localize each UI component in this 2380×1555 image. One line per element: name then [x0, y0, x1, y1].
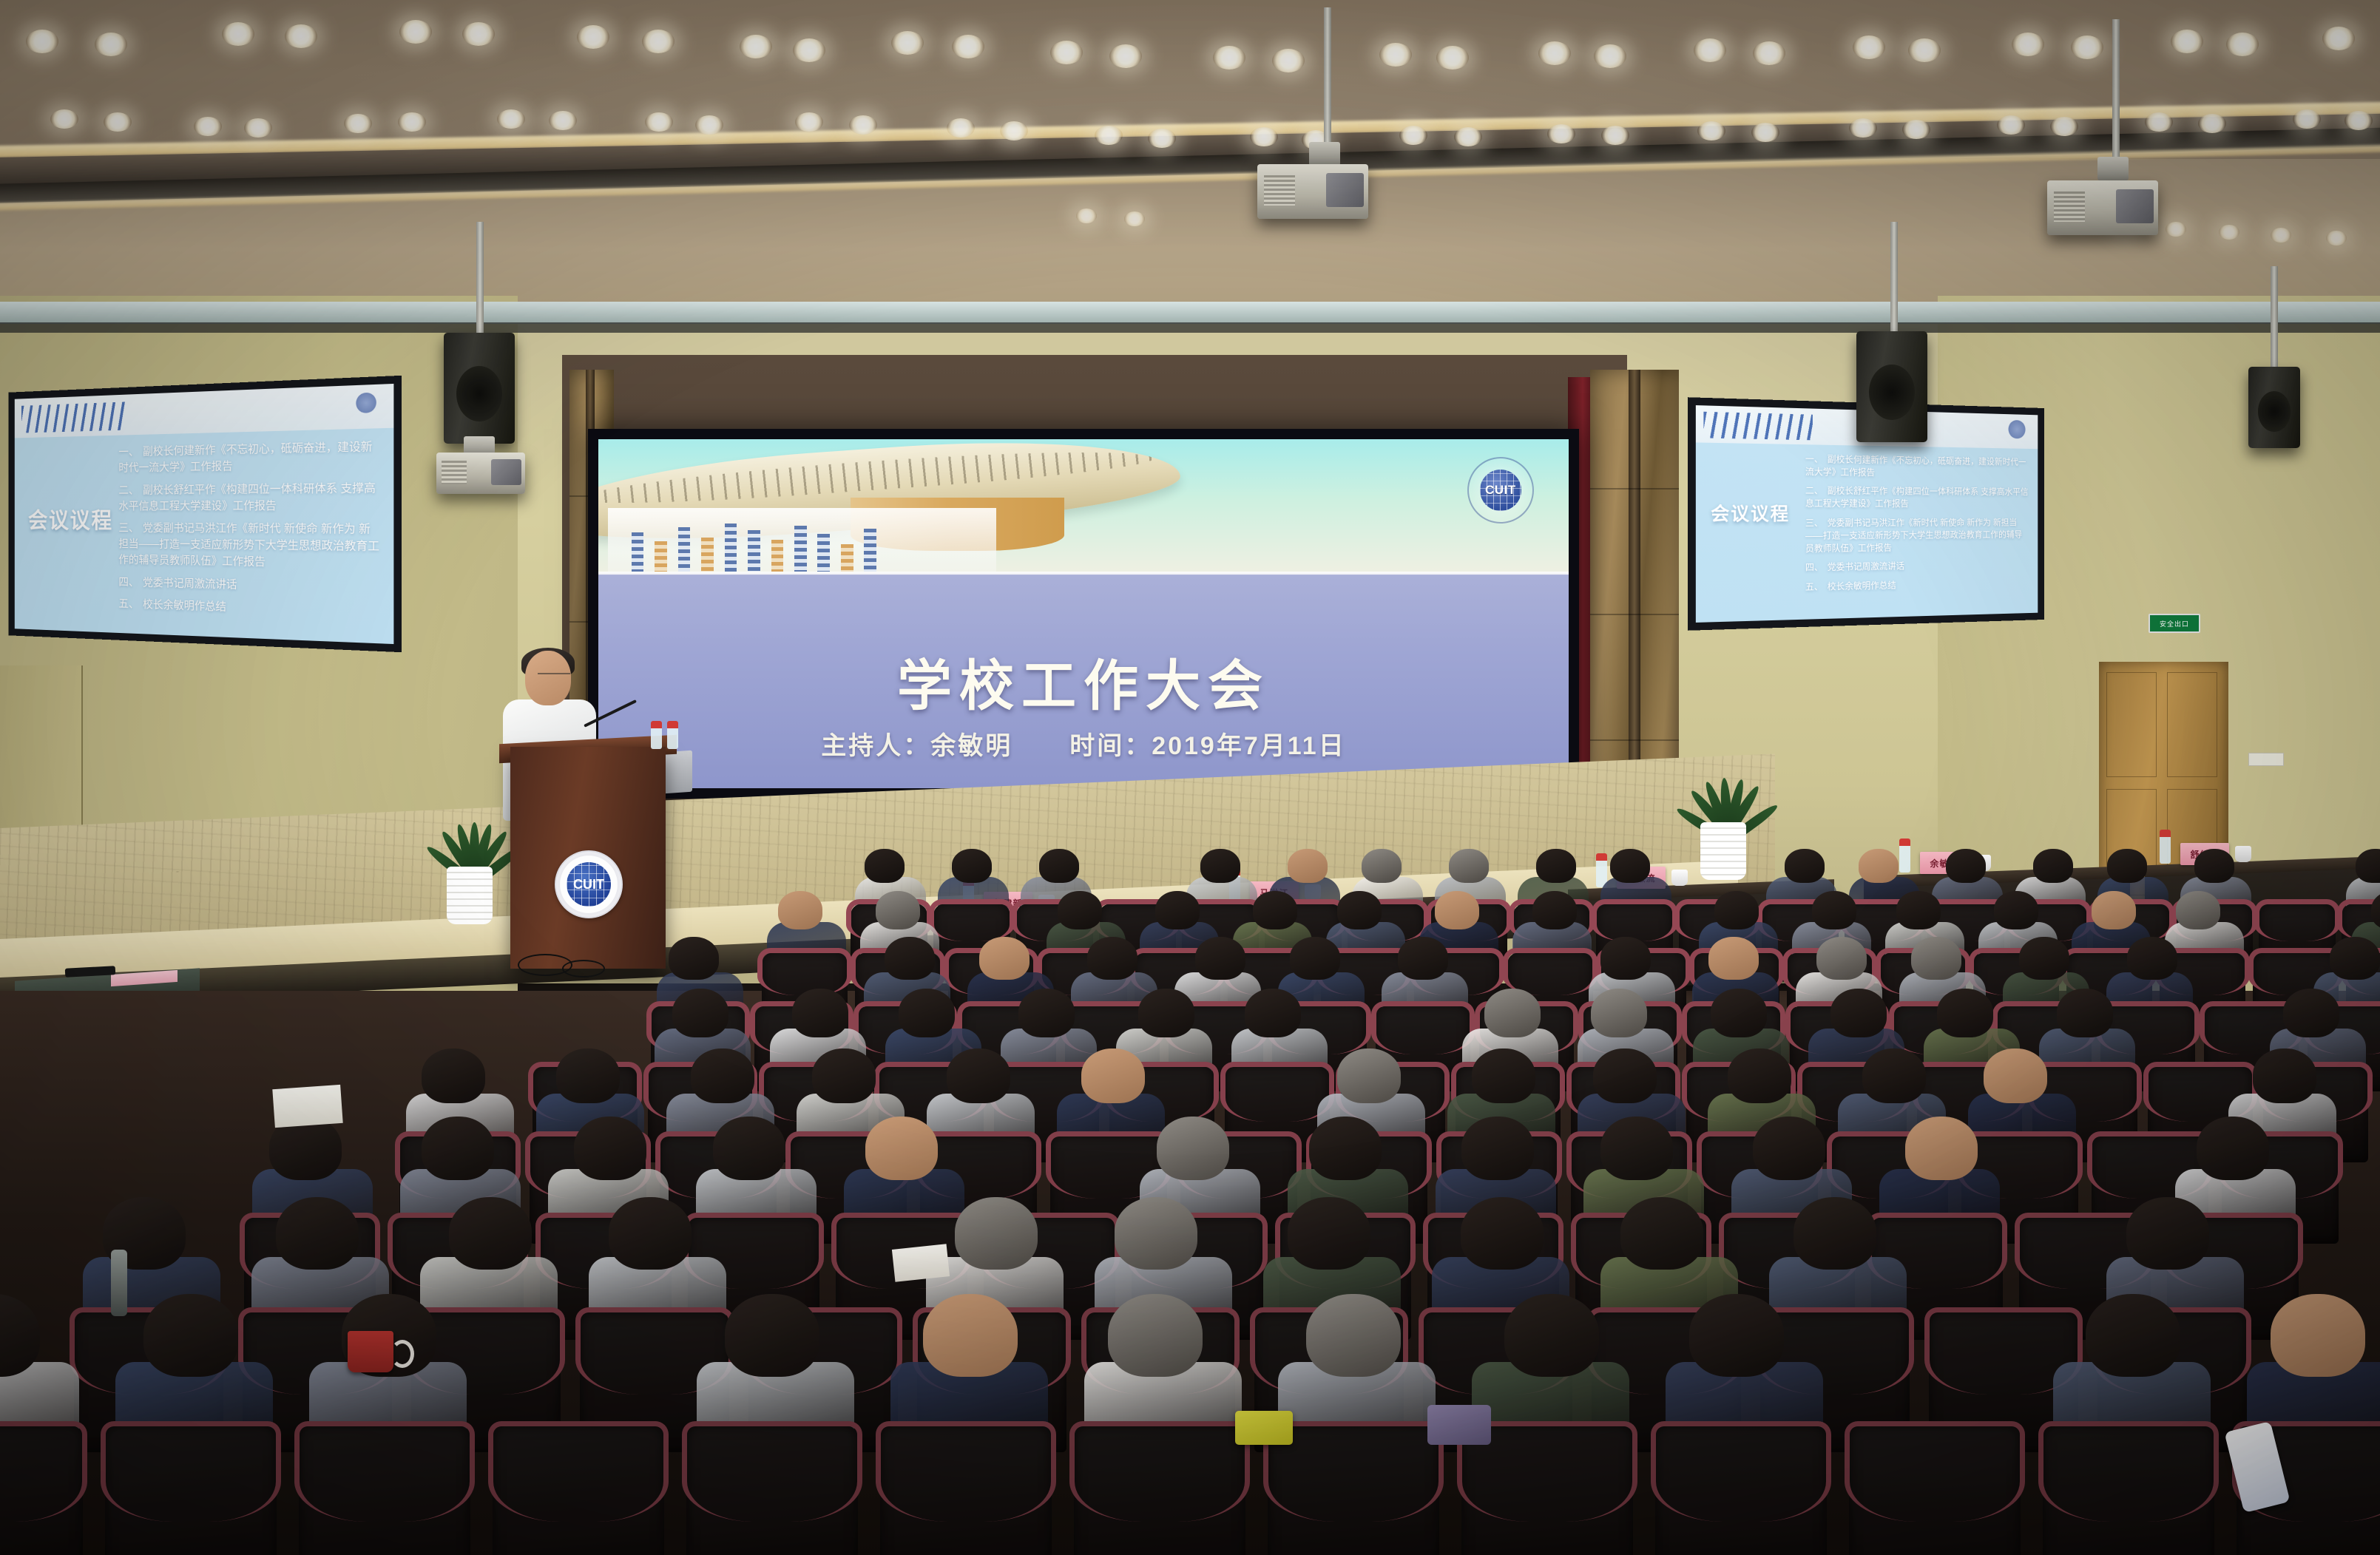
audience-member-head [1058, 891, 1102, 929]
auditorium-seat[interactable] [299, 1426, 470, 1555]
ceiling-downlight [1601, 126, 1629, 145]
hanging-speaker-left [444, 333, 515, 444]
agenda-item-text: 党委书记周激流讲话 [1828, 561, 1904, 573]
ceiling-downlight [1148, 129, 1176, 148]
speaking-podium: CUIT [510, 747, 666, 969]
tea-cup [1671, 870, 1688, 886]
speaker-hanger-rod [2271, 266, 2278, 370]
agenda-item-number: 三、 [1805, 518, 1823, 528]
slide-building-window [678, 527, 691, 572]
floor-cable [562, 960, 605, 978]
ceiling-downlight [2071, 35, 2103, 59]
audience-member-head [1911, 937, 1961, 980]
audience-member-head [1461, 1197, 1544, 1270]
cuit-podium-emblem-icon: CUIT [555, 850, 623, 918]
door-panel [2106, 672, 2157, 777]
audience-member-head [1288, 849, 1328, 883]
audience-member-head [1600, 1117, 1673, 1180]
audience-member-head [609, 1197, 692, 1270]
slide-subtitle-row: 主持人：余敏明 时间：2019年7月11日 [598, 725, 1569, 762]
ceiling-downlight [1547, 124, 1575, 143]
ceiling-downlight [50, 109, 78, 129]
audience-member-head [1862, 1048, 1926, 1103]
auditorium-seat[interactable] [1268, 1426, 1439, 1555]
ceiling-downlight [2326, 231, 2347, 245]
paper-handout [272, 1085, 342, 1128]
audience-member-head [1984, 1048, 2047, 1103]
ceiling-downlight [1076, 209, 1097, 223]
slide-building-window [701, 538, 714, 572]
ceiling-downlight [1694, 38, 1726, 62]
audience-member-head [143, 1294, 238, 1377]
slide-building-window [725, 524, 737, 572]
main-slide: CUIT 学校工作大会 主持人：余敏明 时间：2019年7月11日 [598, 439, 1569, 788]
audience-member-head [2033, 849, 2073, 883]
audience-member-head [1288, 1197, 1370, 1270]
ceiling-downlight [398, 112, 426, 132]
slide-building-graphic [608, 508, 996, 572]
agenda-item-number: 四、 [118, 575, 138, 588]
audience-member-head [1472, 1048, 1535, 1103]
agenda-item: 三、党委副书记马洪江作《新时代 新使命 新作为 新担当——打造一支适应新形势下大… [1805, 517, 2029, 555]
agenda-item-text: 党委副书记马洪江作《新时代 新使命 新作为 新担当——打造一支适应新形势下大学生… [118, 522, 379, 568]
audience-member-head [1905, 1117, 1978, 1180]
travel-mug [348, 1331, 393, 1372]
ceiling-downlight [2293, 109, 2321, 129]
ceiling-downlight [1050, 41, 1083, 64]
audience-member-head [1689, 1294, 1784, 1377]
cuit-logo-text: CUIT [1485, 483, 1516, 498]
audience-member-head [2127, 937, 2177, 980]
slide-building-window [794, 526, 807, 572]
slide-building-window [748, 530, 760, 572]
agenda-item: 四、党委书记周激流讲话 [118, 575, 381, 597]
audience-member-head [865, 849, 905, 883]
audience-member-head [923, 1294, 1018, 1377]
ceiling-projector-left [436, 453, 525, 494]
auditorium-seat[interactable] [1849, 1426, 2021, 1555]
cuit-logo-text: CUIT [573, 877, 604, 892]
audience-member-head [1620, 1197, 1703, 1270]
cuit-emblem-icon: CUIT [1467, 457, 1534, 524]
agenda-item-text: 副校长何建新作《不忘初心，砥砺奋进，建设新时代一流大学》工作报告 [1805, 454, 2026, 478]
ceiling-downlight [1250, 127, 1278, 146]
audience-member-head [1794, 1197, 1876, 1270]
audience-member-head [955, 1197, 1038, 1270]
ceiling-downlight [2226, 33, 2259, 56]
auditorium-seat[interactable] [105, 1426, 277, 1555]
agenda-item-text: 副校长何建新作《不忘初心，砥砺奋进，建设新时代一流大学》工作报告 [118, 441, 372, 475]
slide-building-window [817, 534, 830, 572]
slide-title: 学校工作大会 [598, 642, 1569, 721]
projector-lens-icon [1326, 173, 1364, 207]
audience-member-head [2107, 849, 2147, 883]
auditorium-seat[interactable] [880, 1426, 1052, 1555]
ceiling-downlight [1436, 46, 1469, 70]
agenda-item-number: 二、 [1805, 486, 1823, 496]
ceiling-downlight [1594, 44, 1626, 68]
side-slide-heading: 会议议程 [1711, 498, 1790, 526]
agenda-item-text: 副校长舒红平作《构建四位一体科研体系 支撑高水平信息工程大学建设》工作报告 [1805, 486, 2028, 509]
audience-member-head [672, 989, 728, 1037]
audience-member-head [1816, 937, 1867, 980]
audience-member-head [1937, 989, 1993, 1037]
auditorium-seat[interactable] [0, 1426, 83, 1555]
audience-member-head [1253, 891, 1297, 929]
audience-member-head [1714, 891, 1759, 929]
ceiling-downlight [1109, 44, 1142, 68]
speaker-hanger-rod [476, 222, 484, 333]
audience-member-head [2126, 1197, 2209, 1270]
projector-lens-icon [2116, 189, 2154, 223]
audience-member-head [669, 937, 719, 980]
yellow-notebook [1235, 1411, 1293, 1445]
audience-member-head [2086, 1294, 2180, 1377]
audience-member-head [574, 1117, 646, 1180]
ceiling-downlight [695, 115, 723, 135]
audience-member-head [1309, 1117, 1382, 1180]
ceiling-downlight [2145, 112, 2173, 132]
audience-member-head [1039, 849, 1079, 883]
audience-member-head [778, 891, 822, 929]
ceiling-downlight [1853, 35, 1885, 59]
audience-member-head [1728, 1048, 1791, 1103]
ceiling-downlight [891, 31, 924, 55]
audience-member-head [2356, 849, 2380, 883]
audience-member-head [876, 891, 920, 929]
ceiling-downlight [104, 112, 132, 132]
ceiling-downlight [2271, 228, 2291, 243]
audience-member-head [952, 849, 992, 883]
agenda-item-number: 五、 [1805, 581, 1823, 592]
audience-member-head [792, 989, 848, 1037]
agenda-item: 五、校长余敏明作总结 [118, 596, 381, 620]
ceiling-downlight [2166, 222, 2186, 237]
audience-member-head [2271, 1294, 2365, 1377]
audience-member-head [2057, 989, 2113, 1037]
ceiling-downlight [26, 30, 58, 53]
agenda-item-number: 三、 [118, 522, 138, 535]
ceiling-downlight [795, 112, 823, 132]
audience-member-head [2194, 849, 2234, 883]
slide-building-window [841, 544, 853, 572]
ceiling-downlight [344, 114, 372, 133]
mug-handle-icon [391, 1340, 414, 1368]
audience-member-head [1337, 1048, 1401, 1103]
water-bottle [651, 721, 662, 749]
ceiling-downlight [1213, 46, 1245, 70]
side-slide-agenda-list: 一、副校长何建新作《不忘初心，砥砺奋进，建设新时代一流大学》工作报告二、副校长舒… [118, 438, 381, 628]
tea-cup [2235, 846, 2251, 862]
globe-icon: CUIT [567, 862, 611, 907]
ceiling-downlight [1000, 121, 1028, 140]
ceiling-downlight [2198, 114, 2226, 133]
cuit-emblem-icon [2008, 420, 2025, 439]
agenda-item-number: 一、 [1805, 453, 1823, 464]
audience-member-head [713, 1117, 785, 1180]
ceiling-downlight [1454, 127, 1482, 146]
audience-member-head [2253, 1048, 2316, 1103]
audience-member-head [2019, 937, 2069, 980]
ceiling-downlight [1902, 120, 1930, 139]
audience-member-head [1337, 891, 1382, 929]
projector-lens-icon [491, 459, 521, 485]
door-panel [2167, 672, 2217, 777]
agenda-item: 一、副校长何建新作《不忘初心，砥砺奋进，建设新时代一流大学》工作报告 [118, 438, 381, 476]
side-slide-heading: 会议议程 [28, 502, 113, 535]
audience-member-head [1711, 989, 1767, 1037]
slide-time-label: 时间：2019年7月11日 [1069, 732, 1346, 760]
ceiling-downlight [462, 22, 495, 46]
audience-member-head [1290, 937, 1340, 980]
speaker-hanger-rod [1890, 222, 1898, 333]
water-bottle [1899, 839, 1910, 873]
audience-member-head [1398, 937, 1448, 980]
ceiling-downlight [642, 30, 675, 53]
hanging-speaker-far-right [2248, 367, 2300, 448]
folded-garment [1427, 1405, 1491, 1445]
audience-member-head [2092, 891, 2136, 929]
audience-member-head [1994, 891, 2038, 929]
ceiling-downlight [244, 118, 272, 138]
projector-vent [1264, 175, 1295, 206]
audience-member-head [1753, 1117, 1825, 1180]
slide-building-window [632, 532, 644, 572]
agenda-item: 四、党委书记周激流讲话 [1805, 559, 2029, 575]
agenda-item: 一、副校长何建新作《不忘初心，砥砺奋进，建设新时代一流大学》工作报告 [1805, 453, 2029, 480]
audience-member-head [1532, 891, 1577, 929]
audience-member-head [1830, 989, 1887, 1037]
projector-hanger-rod [2112, 19, 2120, 160]
audience-member-head [899, 989, 955, 1037]
hanging-speaker-right [1856, 331, 1927, 442]
audience-member-head [1449, 849, 1489, 883]
ceiling-downlight [645, 112, 673, 132]
audience-member-head [1362, 849, 1402, 883]
agenda-item-number: 五、 [118, 597, 138, 610]
agenda-item: 二、副校长舒红平作《构建四位一体科研体系 支撑高水平信息工程大学建设》工作报告 [1805, 485, 2029, 511]
auditorium-seat[interactable] [686, 1426, 858, 1555]
slide-building-window [771, 540, 784, 572]
audience-member-head [276, 1197, 359, 1270]
ceiling-downlight [285, 24, 317, 48]
paper-handout [892, 1244, 950, 1281]
projector-vent [2054, 192, 2085, 222]
agenda-item-number: 二、 [118, 484, 138, 497]
wall-cornice-strip [0, 302, 2380, 324]
agenda-item: 五、校长余敏明作总结 [1805, 577, 2029, 594]
audience-member-head [1081, 1048, 1145, 1103]
ceiling-downlight [2322, 27, 2355, 50]
ceiling-downlight [1124, 211, 1145, 226]
audience-member-head [2197, 1117, 2269, 1180]
main-projection-screen: CUIT 学校工作大会 主持人：余敏明 时间：2019年7月11日 [588, 429, 1579, 799]
audience-member-head [1484, 989, 1541, 1037]
audience-member-head [865, 1117, 938, 1180]
audience-member-head [1087, 937, 1137, 980]
audience-member-head [1018, 989, 1075, 1037]
ceiling-downlight [1095, 126, 1123, 145]
audience-member-head [1138, 989, 1194, 1037]
projector-mount [2097, 157, 2129, 180]
ceiling-downlight [497, 109, 525, 129]
ceiling-downlight [1379, 43, 1412, 67]
audience-member-head [422, 1048, 485, 1103]
audience-member-head [1591, 989, 1647, 1037]
audience-member-head [556, 1048, 620, 1103]
audience-member-head [1593, 1048, 1657, 1103]
ceiling-downlight [222, 22, 254, 46]
potted-plant-right [1664, 665, 1782, 880]
water-bottle [2160, 830, 2171, 864]
agenda-item-text: 党委副书记马洪江作《新时代 新使命 新作为 新担当——打造一支适应新形势下大学生… [1805, 518, 2022, 554]
audience-member-head [1195, 937, 1245, 980]
audience-member-head [1200, 849, 1240, 883]
wall-cornice-shadow [0, 322, 2380, 333]
ceiling-downlight [952, 35, 984, 58]
glasses-icon [538, 673, 570, 681]
auditorium-seat[interactable] [1461, 1426, 1633, 1555]
ceiling-downlight [194, 117, 222, 136]
projector-vent [442, 461, 467, 484]
audience-member-head [422, 1117, 494, 1180]
exit-sign: 安全出口 [2149, 614, 2200, 633]
audience-member-head [1600, 937, 1651, 980]
ceiling-downlight [1849, 118, 1877, 138]
ceiling-downlight [1272, 49, 1305, 72]
audience-member-head [1157, 1117, 1229, 1180]
audience-member-head [449, 1197, 532, 1270]
globe-icon: CUIT [1480, 470, 1521, 511]
ceiling-downlight [2050, 117, 2078, 136]
ceiling-downlight [947, 118, 975, 138]
auditorium-seat[interactable] [2043, 1426, 2214, 1555]
audience-member-head [1946, 849, 1986, 883]
agenda-item-text: 党委书记周激流讲话 [143, 576, 237, 591]
ceiling-downlight [1753, 41, 1785, 65]
audience-member-head [1708, 937, 1759, 980]
ceiling-downlight [1399, 126, 1427, 145]
audience-member-head [1115, 1197, 1197, 1270]
wall-switch-plate[interactable] [2248, 753, 2284, 766]
left-side-projection-screen: 会议议程 一、副校长何建新作《不忘初心，砥砺奋进，建设新时代一流大学》工作报告二… [8, 376, 402, 652]
audience-member-head [1435, 891, 1479, 929]
plant-pot [1700, 822, 1746, 880]
plant-pot [447, 867, 493, 924]
ceiling-downlight [740, 35, 772, 58]
ceiling-downlight [2219, 225, 2239, 240]
slide-building-window [655, 541, 667, 572]
slide-divider-line [598, 572, 1569, 575]
pillar-seam [1590, 614, 1679, 615]
audience-member-head [1896, 891, 1941, 929]
ceiling-downlight [549, 111, 577, 130]
ceiling-downlight [849, 115, 877, 135]
slide-building-window [864, 529, 876, 572]
agenda-item: 三、党委副书记马洪江作《新时代 新使命 新作为 新担当——打造一支适应新形势下大… [118, 521, 381, 572]
ceiling-downlight [95, 33, 127, 56]
ceiling-downlight [2171, 30, 2203, 53]
audience-member-head [1610, 849, 1650, 883]
ceiling-downlight [2344, 111, 2373, 130]
audience-member-head [1155, 891, 1200, 929]
audience-member-head [1245, 989, 1301, 1037]
side-slide-building-graphic [21, 402, 126, 433]
ceiling-projector-center[interactable] [1257, 164, 1368, 219]
slide-header-photo [598, 439, 1569, 572]
thermos-bottle [111, 1250, 127, 1316]
ceiling-downlight [577, 25, 609, 49]
ceiling-projector-right[interactable] [2047, 180, 2158, 235]
agenda-item-text: 副校长舒红平作《构建四位一体科研体系 支撑高水平信息工程大学建设》工作报告 [118, 481, 376, 512]
audience-member-head [1306, 1294, 1401, 1377]
ceiling-downlight [1751, 123, 1779, 142]
projector-hanger-rod [1324, 7, 1331, 144]
audience-member-head [691, 1048, 754, 1103]
audience-member-head [2330, 937, 2380, 980]
audience-member-head [1812, 891, 1856, 929]
ceiling-downlight [2012, 33, 2044, 56]
agenda-item: 二、副校长舒红平作《构建四位一体科研体系 支撑高水平信息工程大学建设》工作报告 [118, 480, 381, 514]
ceiling-downlight [1538, 41, 1571, 65]
ceiling-downlight [1697, 121, 1725, 140]
agenda-item-text: 校长余敏明作总结 [1828, 580, 1896, 592]
agenda-item-number: 四、 [1805, 562, 1823, 573]
ceiling-downlight [1997, 115, 2025, 135]
side-slide-building-graphic [1703, 412, 1813, 440]
auditorium-seat[interactable] [1074, 1426, 1245, 1555]
auditorium-photo: 安全出口 [0, 0, 2380, 1555]
pillar-seam [1590, 488, 1679, 489]
slide-host-label: 主持人：余敏明 [821, 732, 1012, 760]
auditorium-seat[interactable] [1655, 1426, 1827, 1555]
ceiling-downlight [1908, 38, 1941, 62]
audience-member-head [1859, 849, 1899, 883]
audience-member-head [2176, 891, 2220, 929]
ceiling-downlight [793, 38, 825, 62]
left-side-slide: 会议议程 一、副校长何建新作《不忘初心，砥砺奋进，建设新时代一流大学》工作报告二… [15, 384, 394, 644]
audience-member-head [1504, 1294, 1599, 1377]
side-slide-agenda-list: 一、副校长何建新作《不忘初心，砥砺奋进，建设新时代一流大学》工作报告二、副校长舒… [1805, 453, 2029, 600]
ceiling-downlight [399, 20, 432, 44]
audience-member-head [725, 1294, 819, 1377]
agenda-item-text: 校长余敏明作总结 [143, 598, 226, 613]
audience-member-head [1785, 849, 1825, 883]
audience-member-head [1461, 1117, 1534, 1180]
agenda-item-number: 一、 [118, 446, 138, 458]
audience-member-head [1536, 849, 1576, 883]
audience-member-head [1108, 1294, 1203, 1377]
audience-member-head [812, 1048, 876, 1103]
audience-member-head [947, 1048, 1010, 1103]
projector-mount [1309, 142, 1340, 166]
audience-member-head [979, 937, 1030, 980]
audience-member-head [885, 937, 935, 980]
audience-member-head [2283, 989, 2339, 1037]
auditorium-seat[interactable] [493, 1426, 664, 1555]
water-bottle [667, 721, 678, 749]
